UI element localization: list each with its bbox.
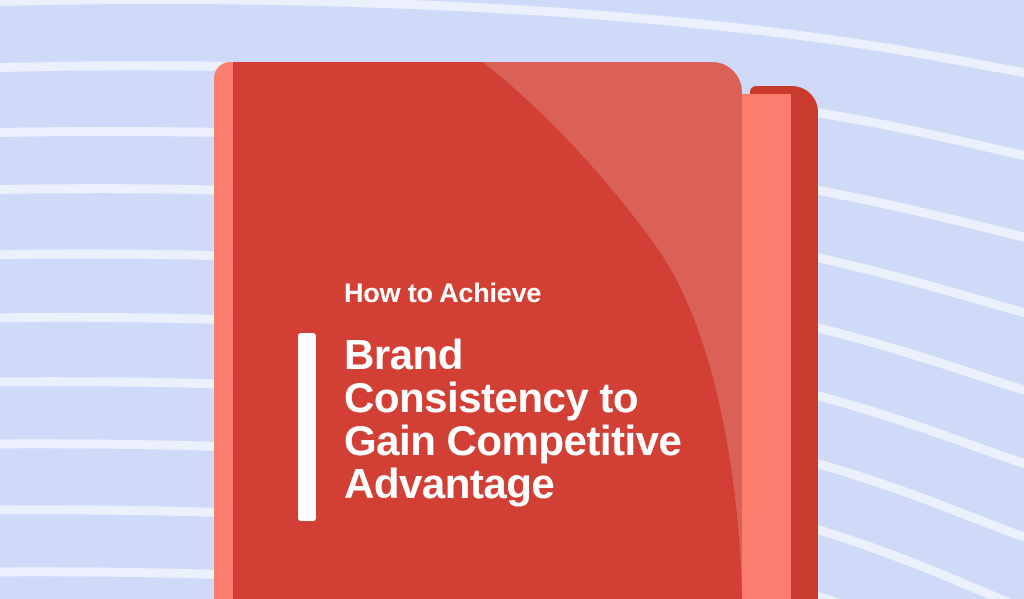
title-accent-bar [298, 333, 316, 521]
cover-title-line-4: Advantage [344, 462, 744, 505]
ebook-cover-illustration: How to Achieve Brand Consistency to Gain… [0, 0, 1024, 599]
cover-title-line-1: Brand [344, 333, 744, 376]
cover-title: Brand Consistency to Gain Competitive Ad… [344, 333, 744, 505]
cover-title-row: Brand Consistency to Gain Competitive Ad… [344, 333, 744, 505]
cover-eyebrow: How to Achieve [344, 278, 744, 308]
cover-title-line-3: Gain Competitive [344, 419, 744, 462]
cover-text-block: How to Achieve Brand Consistency to Gain… [344, 278, 744, 308]
cover-title-line-2: Consistency to [344, 376, 744, 419]
book-graphic: How to Achieve Brand Consistency to Gain… [0, 0, 1024, 599]
